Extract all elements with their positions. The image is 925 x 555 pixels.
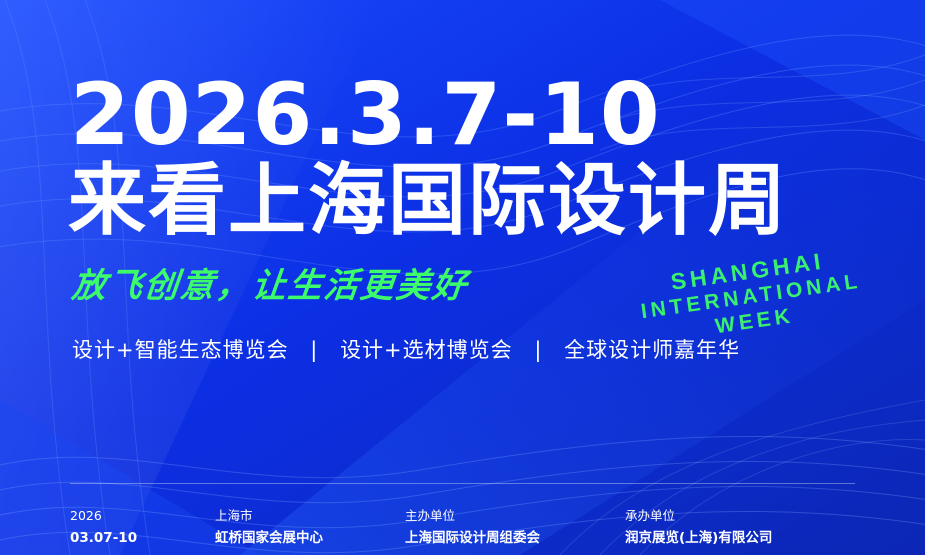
headline-main: 来看上海国际设计周 [68,162,788,240]
subtitle-bar: 设计+智能生态博览会 | 设计+选材博览会 | 全球设计师嘉年华 [72,334,740,364]
footer-column-host: 承办单位 润京展览(上海)有限公司 [625,505,772,551]
footer-host-label: 承办单位 [625,505,772,527]
footer-organizer-label: 主办单位 [405,505,540,527]
poster-canvas: 2026.3.7-10 来看上海国际设计周 放飞创意，让生活更美好 SHANGH… [0,0,925,555]
footer-info: 2026 03.07-10 上海市 虹桥国家会展中心 主办单位 上海国际设计周组… [0,483,925,555]
footer-column-city: 上海市 虹桥国家会展中心 [215,505,323,551]
subtitle-item-1: 设计+智能生态博览会 [72,338,289,362]
subtitle-item-2: 设计+选材博览会 [340,338,513,362]
footer-host-name: 润京展览(上海)有限公司 [625,527,772,551]
subtitle-separator-2: | [520,338,556,362]
footer-divider [70,483,855,484]
footer-column-organizer: 主办单位 上海国际设计周组委会 [405,505,540,551]
footer-organizer-name: 上海国际设计周组委会 [405,527,540,551]
headline-date: 2026.3.7-10 [70,72,661,158]
footer-column-date: 2026 03.07-10 [70,505,137,551]
subtitle-separator-1: | [296,338,332,362]
poster-content: 2026.3.7-10 来看上海国际设计周 放飞创意，让生活更美好 SHANGH… [0,0,925,555]
slogan-text: 放飞创意，让生活更美好 [70,268,470,305]
subtitle-item-3: 全球设计师嘉年华 [564,338,740,362]
footer-date-range: 03.07-10 [70,527,137,551]
footer-date-year: 2026 [70,505,137,527]
footer-venue-name: 虹桥国家会展中心 [215,527,323,551]
footer-city-label: 上海市 [215,505,323,527]
